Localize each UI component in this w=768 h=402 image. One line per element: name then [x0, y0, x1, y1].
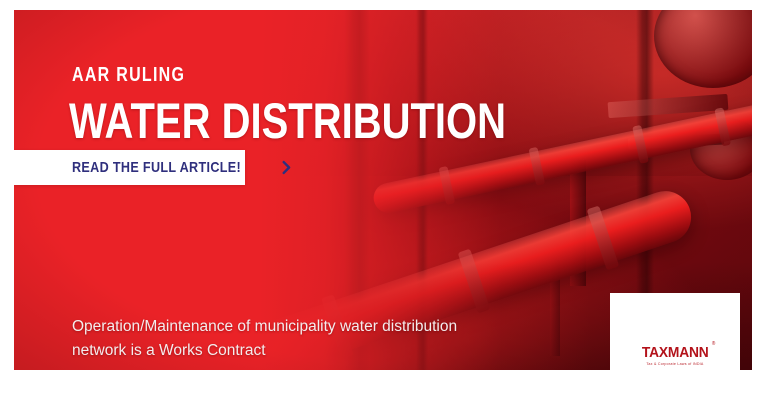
page-title: WATER DISTRIBUTION	[69, 96, 506, 146]
ad-banner: AAR RULING WATER DISTRIBUTION READ THE F…	[0, 0, 768, 402]
taxmann-logo: TAXMANN ®	[642, 345, 709, 360]
eyebrow-text: AAR RULING	[72, 65, 185, 85]
taxmann-logo-text: TAXMANN	[642, 344, 709, 361]
taxmann-logo-tagline: Tax & Corporate Laws of INDIA	[639, 363, 711, 367]
banner-creative[interactable]: AAR RULING WATER DISTRIBUTION READ THE F…	[14, 10, 752, 370]
registered-trademark-icon: ®	[712, 342, 715, 347]
read-full-article-button[interactable]: READ THE FULL ARTICLE!	[14, 150, 245, 185]
brand-logo-card[interactable]: TAXMANN ® Tax & Corporate Laws of INDIA	[610, 293, 740, 370]
caption-text: Operation/Maintenance of municipality wa…	[72, 315, 512, 363]
chevron-right-icon	[279, 160, 294, 175]
logo-wrap: TAXMANN ® Tax & Corporate Laws of INDIA	[639, 345, 711, 367]
cta-label: READ THE FULL ARTICLE!	[72, 160, 241, 175]
